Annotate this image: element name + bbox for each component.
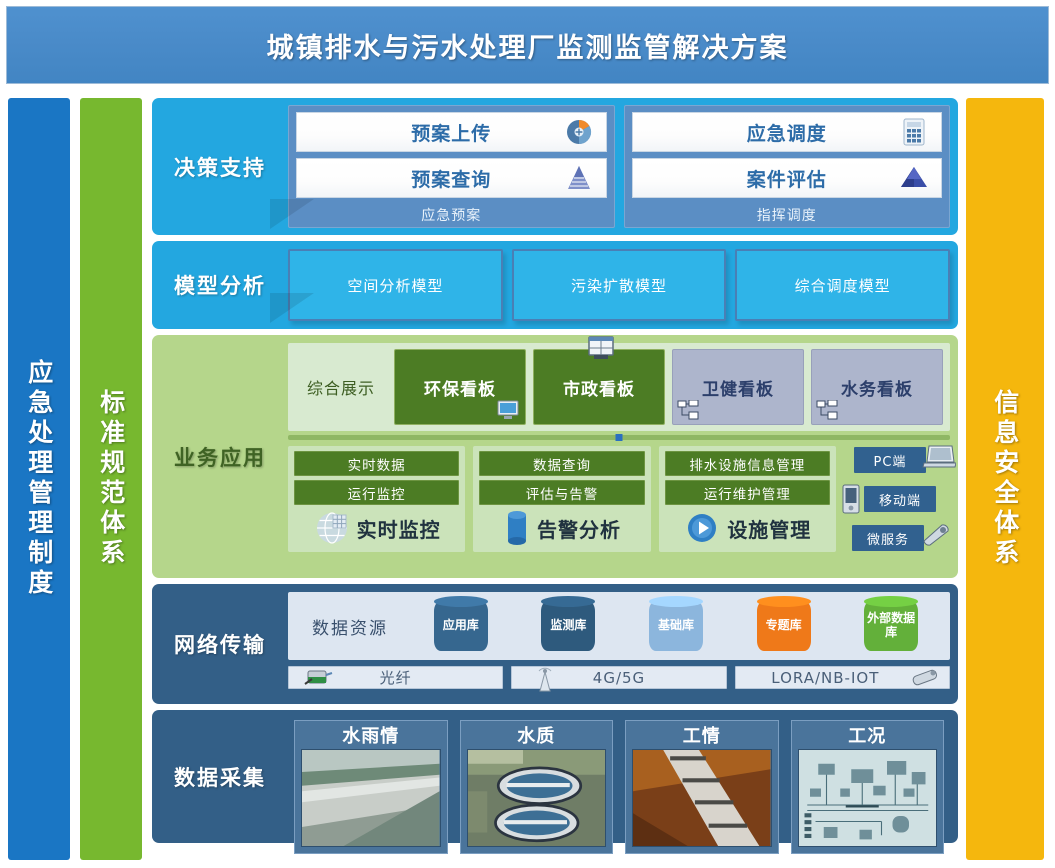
business-column-alarm: 数据查询 评估与告警 告警分析 [473, 446, 650, 552]
database-label: 监测库 [541, 601, 595, 651]
decision-group-emergency-plan: 预案上传 预案查询 [288, 105, 615, 228]
decision-item-label: 应急调度 [747, 119, 827, 146]
collection-card-label: 工况 [792, 721, 944, 749]
collection-card-project-status[interactable]: 工情 [625, 720, 779, 854]
decision-item-label: 预案查询 [411, 165, 491, 192]
client-endpoints: PC端 移动端 [844, 446, 950, 552]
collection-card-water-rain[interactable]: 水雨情 [294, 720, 448, 854]
pyramid-dark-icon [899, 163, 929, 193]
database-label: 基础库 [649, 601, 703, 651]
business-pill-drainage-facility-info[interactable]: 排水设施信息管理 [665, 451, 830, 476]
link-4g5g[interactable]: 4G/5G [511, 666, 726, 689]
network-transmission-body: 数据资源 应用库 监测库 基础库 专题库 外部数据库 [288, 592, 950, 696]
band-label-decision-support: 决策支持 [152, 105, 288, 228]
client-chip-mobile[interactable]: 移动端 [864, 486, 936, 512]
database-external[interactable]: 外部数据库 [840, 601, 942, 651]
business-feature-label: 设施管理 [727, 514, 811, 543]
link-label: 4G/5G [593, 669, 645, 687]
pillar-information-security: 信息安全体系 [966, 98, 1044, 860]
kanban-health[interactable]: 卫健看板 [672, 349, 804, 425]
kanban-environment[interactable]: 环保看板 [394, 349, 526, 425]
business-column-monitoring: 实时数据 运行监控 [288, 446, 465, 552]
overview-label: 综合展示 [295, 349, 387, 425]
model-analysis-body: 空间分析模型 污染扩散模型 综合调度模型 [288, 249, 950, 321]
decision-item-case-assessment[interactable]: 案件评估 [632, 158, 943, 198]
calculator-icon [899, 117, 929, 147]
laptop-icon [922, 443, 952, 469]
collection-card-operating-condition[interactable]: 工况 [791, 720, 945, 854]
decision-group-footer: 应急预案 [296, 204, 607, 225]
globe-icon [313, 509, 351, 547]
kanban-water-affairs[interactable]: 水务看板 [811, 349, 943, 425]
clarifier-photo [467, 749, 607, 847]
gauge-circle-icon [564, 117, 594, 147]
database-icon [503, 509, 531, 547]
network-icon [677, 400, 699, 420]
model-item-pollution-diffusion[interactable]: 污染扩散模型 [512, 249, 727, 321]
decision-item-emergency-dispatch[interactable]: 应急调度 [632, 112, 943, 152]
database-basic[interactable]: 基础库 [625, 601, 727, 651]
link-lora-nbiot[interactable]: LORA/NB-IOT [735, 666, 950, 689]
business-feature-label: 实时监控 [357, 514, 441, 543]
monitor-icon [497, 400, 519, 420]
mobile-icon [840, 484, 870, 510]
page-title: 城镇排水与污水处理厂监测监管解决方案 [267, 26, 789, 65]
model-item-spatial[interactable]: 空间分析模型 [288, 249, 503, 321]
decision-group-command-dispatch: 应急调度 [624, 105, 951, 228]
play-circle-icon [683, 509, 721, 547]
phone-icon [920, 521, 950, 547]
decision-item-plan-upload[interactable]: 预案上传 [296, 112, 607, 152]
database-label: 外部数据库 [864, 601, 918, 651]
band-data-collection: 数据采集 水雨情 [152, 710, 958, 843]
database-thematic[interactable]: 专题库 [733, 601, 835, 651]
decision-item-plan-query[interactable]: 预案查询 [296, 158, 607, 198]
band-label-business-application: 业务应用 [152, 343, 288, 570]
decision-support-body: 预案上传 预案查询 [288, 105, 950, 228]
network-icon [816, 400, 838, 420]
dashboard-divider [288, 435, 950, 440]
dashboard-row: 综合展示 环保看板 市政看板 [288, 343, 950, 431]
sensor-icon [909, 667, 939, 689]
kanban-label: 环保看板 [424, 375, 496, 400]
pyramid-icon [564, 163, 594, 193]
link-label: 光纤 [380, 667, 412, 688]
model-item-integrated-dispatch[interactable]: 综合调度模型 [735, 249, 950, 321]
link-label: LORA/NB-IOT [771, 669, 879, 687]
band-network-transmission: 网络传输 数据资源 应用库 监测库 基础库 专题库 [152, 584, 958, 704]
decision-item-label: 预案上传 [411, 119, 491, 146]
collection-card-water-quality[interactable]: 水质 [460, 720, 614, 854]
business-columns: 实时数据 运行监控 [288, 446, 950, 552]
link-fiber[interactable]: 光纤 [288, 666, 503, 689]
data-resource-label: 数据资源 [296, 614, 404, 639]
collection-card-label: 工情 [626, 721, 778, 749]
band-label-model-analysis: 模型分析 [152, 249, 288, 321]
client-chip-microservice[interactable]: 微服务 [852, 525, 924, 551]
pillar-standards-system: 标准规范体系 [80, 98, 142, 860]
database-application[interactable]: 应用库 [410, 601, 512, 651]
business-pill-realtime-data[interactable]: 实时数据 [294, 451, 459, 476]
client-label: 移动端 [879, 490, 921, 509]
collection-card-label: 水雨情 [295, 721, 447, 749]
business-feature-facility-management[interactable]: 设施管理 [665, 509, 830, 547]
band-label-network-transmission: 网络传输 [152, 592, 288, 696]
pipeline-photo [632, 749, 772, 847]
band-decision-support: 决策支持 预案上传 [152, 98, 958, 235]
kanban-label: 市政看板 [563, 375, 635, 400]
band-label-data-collection: 数据采集 [152, 718, 288, 835]
kanban-label: 卫健看板 [702, 375, 774, 400]
business-feature-realtime-monitoring[interactable]: 实时监控 [294, 509, 459, 547]
collection-card-label: 水质 [461, 721, 613, 749]
database-monitoring[interactable]: 监测库 [518, 601, 620, 651]
business-pill-operation-monitoring[interactable]: 运行监控 [294, 480, 459, 505]
business-pill-operation-maintenance[interactable]: 运行维护管理 [665, 480, 830, 505]
antenna-icon [534, 667, 564, 689]
client-label: 微服务 [867, 529, 909, 548]
business-pill-data-query[interactable]: 数据查询 [479, 451, 644, 476]
decision-group-footer: 指挥调度 [632, 204, 943, 225]
pillar-emergency-management: 应急处理管理制度 [8, 98, 70, 860]
decision-item-label: 案件评估 [747, 165, 827, 192]
window-icon [588, 336, 610, 356]
data-collection-body: 水雨情 水质 [288, 718, 950, 835]
business-pill-assessment-alarm[interactable]: 评估与告警 [479, 480, 644, 505]
architecture-stack: 决策支持 预案上传 [152, 98, 958, 860]
business-feature-label: 告警分析 [537, 514, 621, 543]
band-business-application: 业务应用 综合展示 环保看板 [152, 335, 958, 578]
fiber-icon [303, 667, 333, 689]
page-title-bar: 城镇排水与污水处理厂监测监管解决方案 [6, 6, 1049, 84]
kanban-label: 水务看板 [841, 375, 913, 400]
database-label: 应用库 [434, 601, 488, 651]
business-feature-alarm-analysis[interactable]: 告警分析 [479, 509, 644, 547]
band-model-analysis: 模型分析 空间分析模型 污染扩散模型 综合调度模型 [152, 241, 958, 329]
client-label: PC端 [874, 451, 907, 470]
transmission-links: 光纤 4G/5G LORA/NB-IOT [288, 666, 950, 689]
kanban-municipal[interactable]: 市政看板 [533, 349, 665, 425]
client-chip-pc[interactable]: PC端 [854, 447, 926, 473]
schematic-photo [798, 749, 938, 847]
data-resource-row: 数据资源 应用库 监测库 基础库 专题库 外部数据库 [288, 592, 950, 660]
database-label: 专题库 [757, 601, 811, 651]
business-column-facility: 排水设施信息管理 运行维护管理 设施管理 [659, 446, 836, 552]
business-application-body: 综合展示 环保看板 市政看板 [288, 343, 950, 570]
canal-photo [301, 749, 441, 847]
